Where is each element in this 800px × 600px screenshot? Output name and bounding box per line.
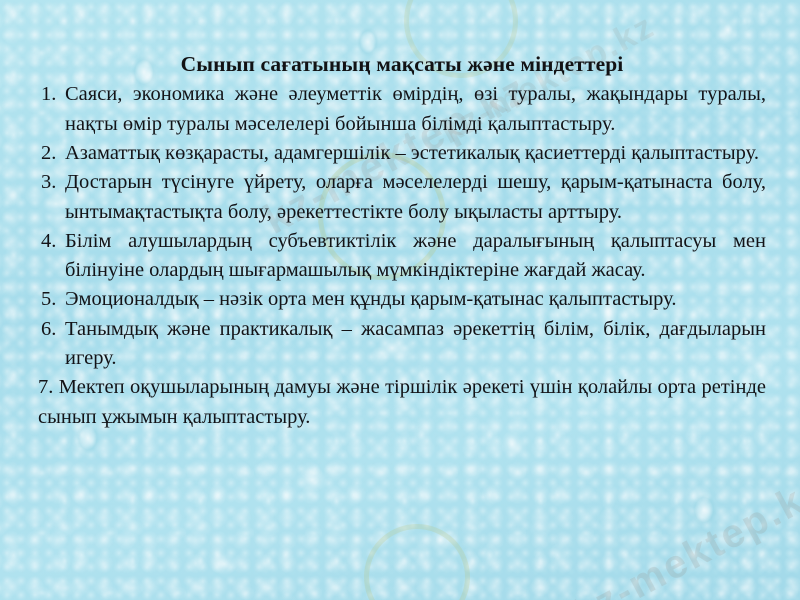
list-item-number: 3. <box>41 168 63 197</box>
list-item-text: Эмоционалдық – нәзік орта мен құнды қары… <box>65 288 676 310</box>
list-item-number: 4. <box>41 227 63 256</box>
list-item: 6.Танымдық және практикалық – жасампаз ә… <box>38 315 766 374</box>
list-item: 3. Достарын түсінуге үйрету, оларға мәсе… <box>38 168 766 227</box>
list-item-text: Мектеп оқушыларының дамуы және тіршілік … <box>38 376 766 427</box>
list-item: 4. Білім алушылардың субъевтиктілік және… <box>38 227 766 286</box>
list-item-number: 1. <box>41 80 63 109</box>
list-item: 5. Эмоционалдық – нәзік орта мен құнды қ… <box>38 285 766 314</box>
list-item-number: 2. <box>41 139 63 168</box>
list-item: 7. Мектеп оқушыларының дамуы және тіршіл… <box>38 373 766 432</box>
page-title: Сынып сағатының мақсаты және міндеттері <box>38 52 766 77</box>
slide-content: Сынып сағатының мақсаты және міндеттері … <box>0 0 800 600</box>
list-item-text: Білім алушылардың субъевтиктілік және да… <box>65 230 766 281</box>
list-item-number: 6. <box>41 315 63 344</box>
list-item: 2.Азаматтық көзқарасты, адамгершілік – э… <box>38 139 766 168</box>
list-item: 1.Саяси, экономика және әлеуметтік өмірд… <box>38 80 766 139</box>
list-item-text: Азаматтық көзқарасты, адамгершілік – эст… <box>65 142 759 164</box>
slide-canvas: kz-mektep.kz kz-mektep.kz kz-mektep.kz С… <box>0 0 800 600</box>
list-item-number: 5. <box>41 285 63 314</box>
goals-list: 1.Саяси, экономика және әлеуметтік өмірд… <box>38 80 766 432</box>
list-item-text: Танымдық және практикалық – жасампаз әре… <box>65 318 766 369</box>
list-item-number: 7. <box>38 376 53 398</box>
list-item-text: Достарын түсінуге үйрету, оларға мәселел… <box>65 171 766 222</box>
list-item-text: Саяси, экономика және әлеуметтік өмірдің… <box>65 83 766 134</box>
